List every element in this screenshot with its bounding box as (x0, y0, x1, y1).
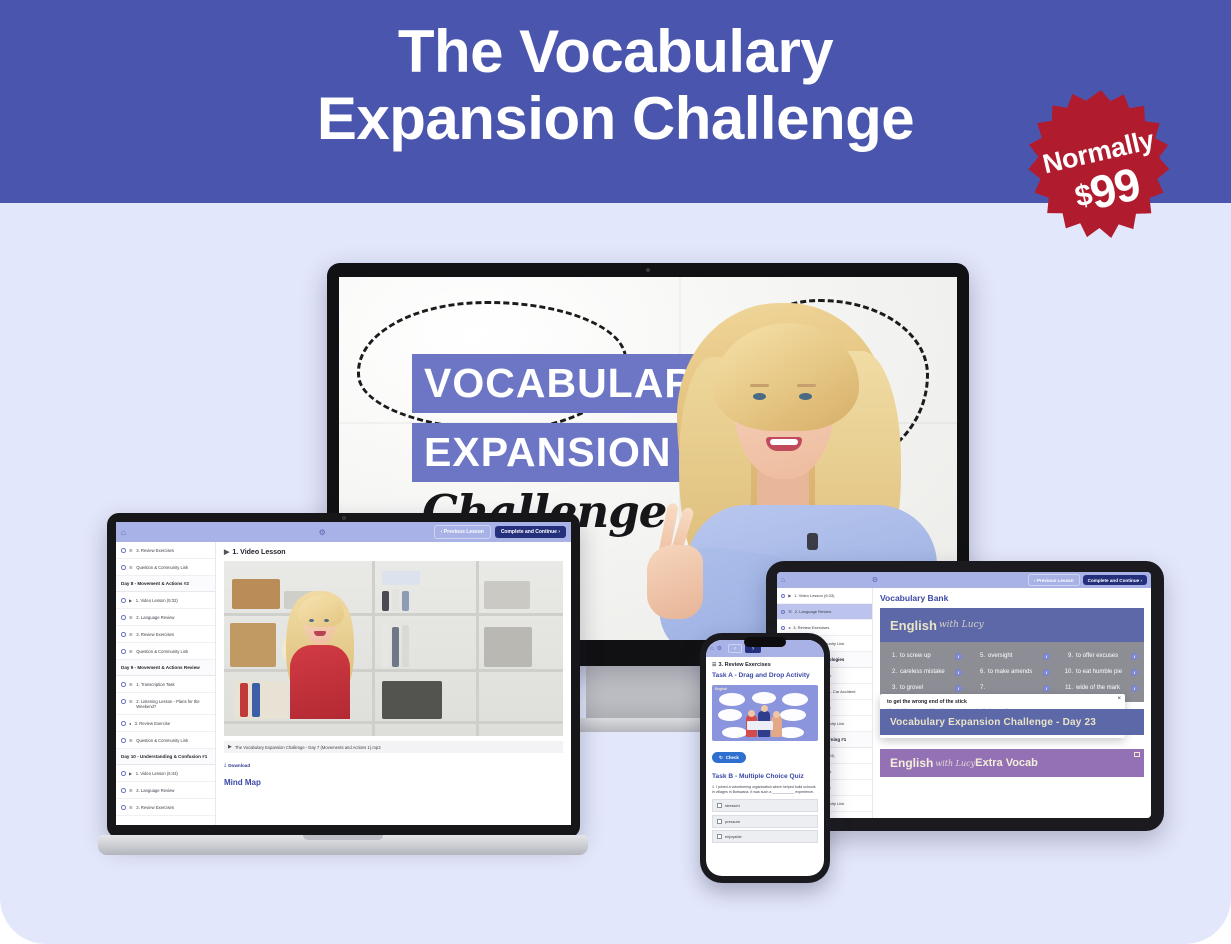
completion-circle-icon[interactable] (121, 805, 126, 810)
sidebar-item-label: 1. Video Lesson (5:32) (136, 598, 210, 603)
sidebar-item-label: 1. Video Lesson (6:33) (794, 593, 868, 598)
vocab-banner-footer: English with Lucy Extra Vocab (880, 749, 1144, 777)
sidebar-item[interactable]: ☰Question & Community Link (116, 643, 215, 660)
audio-icon: ◂ (129, 721, 131, 726)
sidebar-item[interactable]: ▶1. Video Lesson (5:32) (116, 592, 215, 609)
document-icon: ☰ (129, 699, 133, 704)
gear-icon[interactable]: ⚙ (872, 576, 878, 584)
completion-circle-icon[interactable] (781, 626, 785, 630)
document-icon: ☰ (129, 805, 133, 810)
document-icon: ☰ (129, 649, 133, 654)
sidebar-item-label: 3. Review Exercises (793, 625, 868, 630)
page-title-line-1: The Vocabulary (150, 18, 1081, 85)
sidebar-item-label: 2. Language Review (136, 788, 210, 793)
audio-attachment-row[interactable]: ▶ The Vocabulary Expansion Challenge - D… (224, 741, 563, 753)
vocabulary-word: to screw up (900, 653, 952, 659)
webcam-icon (646, 268, 650, 272)
tablet-lms-body: ▶1. Video Lesson (6:33)☰2. Language Revi… (777, 588, 1151, 818)
sidebar-item-label: 3. Review Exercises (136, 548, 210, 553)
completion-circle-icon[interactable] (121, 771, 126, 776)
vocabulary-entry[interactable]: 5.oversighti (968, 648, 1056, 664)
sidebar-item-label: 2. Language Review (795, 609, 868, 614)
quiz-option-label: enjoyable (725, 834, 742, 839)
phone-lesson-content: ☰ 3. Review Exercises Task A - Drag and … (706, 657, 824, 843)
info-icon[interactable]: i (1043, 669, 1050, 676)
vocabulary-number: 7. (976, 685, 985, 691)
refresh-icon: ↻ (719, 755, 723, 761)
tablet-lms-toolbar: ⌂ ⚙ ‹ Previous Lesson Complete and Conti… (777, 572, 1151, 588)
completion-circle-icon[interactable] (121, 649, 126, 654)
phone-bezel: ⌂ ⚙ ‹ › ☰ 3. Review Exercises Task A - D… (700, 633, 830, 883)
phone-lesson-title: ☰ 3. Review Exercises (712, 662, 818, 668)
drag-drop-activity-image[interactable]: English (712, 685, 818, 741)
brand-name: English (890, 756, 933, 770)
complete-continue-button[interactable]: Complete and Continue › (1083, 575, 1147, 585)
task-b-heading: Task B - Multiple Choice Quiz (712, 773, 818, 781)
sidebar-item-label: Question & Community Link (136, 565, 210, 570)
brand-script: with Lucy (935, 759, 975, 768)
close-icon[interactable]: × (1117, 696, 1121, 702)
home-icon[interactable]: ⌂ (781, 577, 785, 584)
sidebar-item-label: 1. Transcription Task (136, 682, 210, 687)
extra-vocab-label: Extra Vocab (975, 757, 1038, 769)
device-mockup-stage: VOCABULARY EXPANSION Challenge (0, 203, 1231, 944)
task-a-heading: Task A - Drag and Drop Activity (712, 672, 818, 680)
video-icon: ▶ (788, 593, 791, 598)
document-icon: ☰ (129, 682, 133, 687)
quiz-option-label: stressed (725, 803, 740, 808)
sidebar-item[interactable]: ☰Question & Community Link (116, 732, 215, 749)
info-icon[interactable]: i (1043, 653, 1050, 660)
laptop-lms-toolbar: ⌂ ⚙ ‹ Previous Lesson Complete and Conti… (116, 522, 571, 542)
completion-circle-icon[interactable] (121, 615, 126, 620)
quiz-option[interactable]: enjoyable (712, 830, 818, 843)
vocabulary-entry[interactable]: 10.to eat humble piei (1056, 664, 1144, 680)
quiz-option[interactable]: stressed (712, 799, 818, 812)
laptop-course-sidebar[interactable]: ☰3. Review Exercises☰Question & Communit… (116, 542, 216, 825)
sidebar-item[interactable]: ☰2. Language Review (116, 782, 215, 799)
sidebar-item-label: Question & Community Link (136, 649, 210, 654)
sidebar-item[interactable]: ☰Question & Community Link (116, 559, 215, 576)
audio-filename: The Vocabulary Expansion Challenge - Day… (235, 745, 381, 750)
quiz-option-label: pressure (725, 819, 740, 824)
vocabulary-number: 2. (888, 669, 897, 675)
quiz-options-list: stressedpressureenjoyable (712, 799, 818, 843)
vocabulary-number: 9. (1064, 653, 1073, 659)
vocabulary-word: to make amends (988, 669, 1040, 675)
download-icon: ⤓ (224, 762, 226, 768)
sidebar-item-label: 1. Video Lesson (5:43) (136, 771, 210, 776)
dynamic-island (744, 637, 786, 647)
page-title-line-2: Expansion Challenge (150, 85, 1081, 152)
tablet-lesson-content: Vocabulary Bank English with Lucy 1.to s… (873, 588, 1151, 818)
vocab-banner-bottom: Vocabulary Expansion Challenge - Day 23 (880, 709, 1144, 735)
sidebar-item[interactable]: ☰2. Language Review (777, 604, 872, 620)
complete-continue-button[interactable]: Complete and Continue › (495, 526, 566, 538)
completion-circle-icon[interactable] (121, 682, 126, 687)
vocabulary-word: to eat humble pie (1076, 669, 1128, 675)
info-icon[interactable]: i (1131, 669, 1138, 676)
sidebar-section-header: Day 8 - Movement & Actions #2 (116, 576, 215, 592)
laptop-lms-body: ☰3. Review Exercises☰Question & Communit… (116, 542, 571, 825)
document-icon: ☰ (129, 632, 133, 637)
info-icon[interactable]: i (955, 669, 962, 676)
completion-circle-icon[interactable] (781, 594, 785, 598)
brand-name: English (890, 618, 937, 633)
quiz-question: 1. I joined a volunteering organisation … (712, 785, 818, 795)
completion-circle-icon[interactable] (121, 598, 126, 603)
promo-page: The Vocabulary Expansion Challenge Norma… (0, 0, 1231, 944)
laptop-sidebar-list: ☰3. Review Exercises☰Question & Communit… (116, 542, 215, 816)
sidebar-item-label: 3. Review Exercises (136, 805, 210, 810)
tablet-screen: ⌂ ⚙ ‹ Previous Lesson Complete and Conti… (777, 572, 1151, 818)
completion-circle-icon[interactable] (121, 632, 126, 637)
laptop-lesson-content: ▶ 1. Video Lesson (216, 542, 571, 825)
document-icon: ☰ (129, 738, 133, 743)
vocabulary-word: careless mistake (900, 669, 952, 675)
video-player-still[interactable] (224, 561, 563, 736)
video-icon: ▶ (129, 771, 132, 776)
video-icon: ▶ (129, 598, 132, 603)
vocabulary-entry[interactable]: 6.to make amendsi (968, 664, 1056, 680)
video-icon: ▶ (224, 548, 229, 556)
document-icon: ☰ (129, 788, 133, 793)
sidebar-item[interactable]: ◂3. Review Exercise (116, 715, 215, 732)
document-icon: ☰ (129, 565, 133, 570)
vocabulary-number: 3. (888, 685, 897, 691)
presenter-photo (276, 587, 364, 715)
sidebar-section-header: Day 10 - Understanding & Confusion #1 (116, 749, 215, 765)
vocabulary-entry[interactable]: 1.to screw upi (880, 648, 968, 664)
vocabulary-word: oversight (988, 653, 1040, 659)
laptop-base (98, 835, 588, 855)
info-icon[interactable]: i (955, 685, 962, 692)
completion-circle-icon[interactable] (121, 738, 126, 743)
laptop-screen: ⌂ ⚙ ‹ Previous Lesson Complete and Conti… (116, 522, 571, 825)
vocabulary-number: 6. (976, 669, 985, 675)
sidebar-item[interactable]: ☰2. Language Review (116, 609, 215, 626)
info-icon[interactable]: i (1131, 685, 1138, 692)
play-icon[interactable]: ▶ (228, 744, 232, 750)
sidebar-item[interactable]: ▶1. Video Lesson (6:33) (777, 588, 872, 604)
home-icon[interactable]: ⌂ (710, 646, 714, 652)
previous-lesson-button[interactable]: ‹ Previous Lesson (434, 525, 491, 539)
completion-circle-icon[interactable] (121, 721, 126, 726)
popup-title: to get the wrong end of the stick (887, 699, 1118, 705)
sidebar-section-header: Day 9 - Movement & Actions Review (116, 660, 215, 676)
document-icon: ☰ (129, 615, 133, 620)
vocabulary-bank-heading: Vocabulary Bank (880, 593, 1144, 603)
sidebar-item[interactable]: ☰3. Review Exercises (116, 799, 215, 816)
sidebar-item-label: 3. Review Exercise (135, 721, 210, 726)
laptop-trackpad-notch (303, 835, 383, 840)
vocabulary-entry[interactable]: 9.to offer excusesi (1056, 648, 1144, 664)
completion-circle-icon[interactable] (121, 699, 126, 704)
completion-circle-icon[interactable] (121, 788, 126, 793)
previous-lesson-button[interactable]: ‹ Previous Lesson (1028, 574, 1080, 586)
vocabulary-entry[interactable]: 2.careless mistakei (880, 664, 968, 680)
vocabulary-column: 1.to screw upi2.careless mistakei3.to gr… (880, 648, 968, 696)
laptop-mockup: ⌂ ⚙ ‹ Previous Lesson Complete and Conti… (98, 513, 588, 868)
completion-circle-icon[interactable] (121, 548, 126, 553)
sidebar-item[interactable]: ▶1. Video Lesson (5:43) (116, 765, 215, 782)
checkbox-icon[interactable] (717, 803, 722, 808)
check-button[interactable]: ↻Check (712, 752, 746, 763)
vocabulary-word: wide of the mark (1076, 685, 1128, 691)
document-icon: ☰ (129, 548, 133, 553)
sidebar-item[interactable]: ☰3. Review Exercises (116, 542, 215, 559)
completion-circle-icon[interactable] (781, 610, 785, 614)
audio-icon: ◂ (788, 625, 790, 630)
sidebar-item-label: 3. Review Exercises (136, 632, 210, 637)
gear-icon[interactable]: ⚙ (319, 528, 326, 537)
checkbox-icon[interactable] (717, 834, 722, 839)
check-button-wrap: ↻Check (712, 746, 818, 764)
sidebar-item[interactable]: ☰2. Listening Lesson - Plans for the Wee… (116, 693, 215, 715)
gear-icon[interactable]: ⚙ (717, 645, 722, 652)
vocab-banner-bottom-title: Vocabulary Expansion Challenge - Day 23 (890, 717, 1096, 728)
vocabulary-grid: 1.to screw upi2.careless mistakei3.to gr… (880, 642, 1144, 702)
phone-screen: ⌂ ⚙ ‹ › ☰ 3. Review Exercises Task A - D… (706, 640, 824, 876)
starburst-icon (1012, 88, 1190, 266)
vocabulary-number: 1. (888, 653, 897, 659)
vocabulary-number: 10. (1064, 669, 1073, 675)
vocabulary-word: to offer excuses (1076, 653, 1128, 659)
vocabulary-word: to grovel (900, 685, 952, 691)
sidebar-item-label: Question & Community Link (136, 738, 210, 743)
monitor-stand-neck (586, 661, 710, 724)
phone-mockup: ⌂ ⚙ ‹ › ☰ 3. Review Exercises Task A - D… (700, 633, 830, 883)
mindmap-heading: Mind Map (224, 778, 563, 787)
laptop-lesson-title: ▶ 1. Video Lesson (224, 548, 563, 556)
webcam-icon (342, 516, 346, 520)
vocab-banner-top: English with Lucy (880, 608, 1144, 642)
sidebar-item[interactable]: ☰1. Transcription Task (116, 676, 215, 693)
laptop-lid: ⌂ ⚙ ‹ Previous Lesson Complete and Conti… (107, 513, 580, 838)
vocabulary-number: 11. (1064, 685, 1073, 691)
document-icon: ☰ (788, 609, 792, 614)
price-badge: Normally $99 (1012, 88, 1190, 266)
vocabulary-column: 5.oversighti6.to make amendsi7.i (968, 648, 1056, 696)
sidebar-item-label: 2. Language Review (136, 615, 210, 620)
info-icon[interactable]: i (955, 653, 962, 660)
download-button[interactable]: ⤓ Download (224, 762, 250, 768)
home-icon[interactable]: ⌂ (121, 528, 126, 537)
fullscreen-icon[interactable] (1134, 752, 1140, 757)
document-icon: ☰ (712, 662, 716, 668)
brand-script: with Lucy (939, 620, 984, 630)
info-icon[interactable]: i (1043, 685, 1050, 692)
sidebar-item[interactable]: ☰3. Review Exercises (116, 626, 215, 643)
vocabulary-number: 5. (976, 653, 985, 659)
sidebar-item-label: 2. Listening Lesson - Plans for the Week… (136, 699, 210, 709)
checkbox-icon[interactable] (717, 819, 722, 824)
quiz-option[interactable]: pressure (712, 815, 818, 828)
info-icon[interactable]: i (1131, 653, 1138, 660)
completion-circle-icon[interactable] (121, 565, 126, 570)
vocabulary-column: 9.to offer excusesi10.to eat humble piei… (1056, 648, 1144, 696)
phone-prev-button[interactable]: ‹ (728, 644, 742, 653)
